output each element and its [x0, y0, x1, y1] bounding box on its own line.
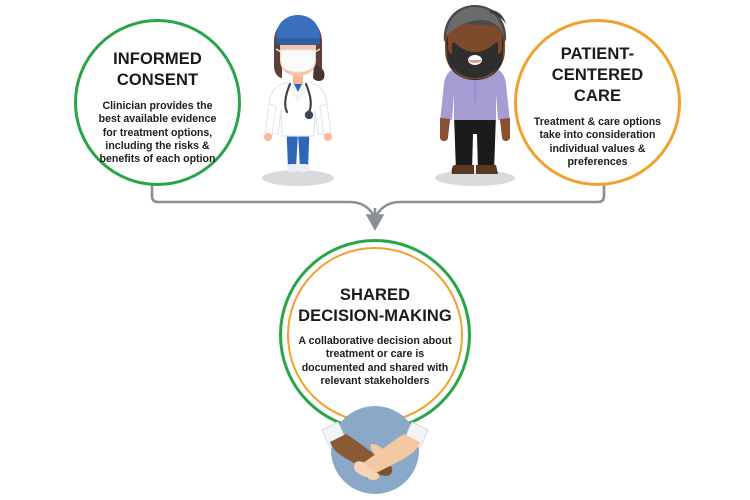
patient-shoe-right	[476, 165, 498, 174]
node-shared-decision-making-title: SHARED DECISION-MAKING	[289, 285, 461, 327]
node-patient-centered-care-body: Treatment & care options take into consi…	[532, 116, 664, 169]
node-informed-consent[interactable]: INFORMED CONSENT Clinician provides the …	[74, 19, 241, 186]
patient-hand-left	[440, 118, 450, 141]
node-patient-centered-care-title: PATIENT-CENTERED CARE	[528, 44, 668, 107]
stethoscope-bell	[305, 111, 313, 119]
face-mask-icon	[281, 50, 315, 72]
patient-shoe-left	[452, 165, 474, 174]
patient-hand-right	[500, 118, 510, 141]
node-shared-decision-making-body: A collaborative decision about treatment…	[295, 335, 455, 388]
handshake-illustration	[316, 404, 434, 500]
clinician-hand-left	[264, 133, 272, 141]
clinician-hair-tail	[313, 64, 325, 81]
clinician-shoe-left	[287, 164, 298, 172]
node-informed-consent-body: Clinician provides the best available ev…	[98, 100, 218, 166]
clinician-shadow	[262, 170, 334, 186]
patient-shadow	[435, 170, 515, 186]
node-informed-consent-title: INFORMED CONSENT	[88, 49, 228, 91]
node-patient-centered-care[interactable]: PATIENT-CENTERED CARE Treatment & care o…	[514, 19, 681, 186]
diagram-canvas: INFORMED CONSENT Clinician provides the …	[0, 0, 750, 500]
node-shared-decision-making[interactable]: SHARED DECISION-MAKING A collaborative d…	[287, 247, 463, 423]
clinician-hand-right	[324, 133, 332, 141]
scrub-cap-band	[276, 38, 320, 45]
clinician-shoe-right	[298, 164, 309, 172]
patient-legs	[454, 114, 496, 172]
clinician-illustration	[238, 8, 358, 194]
patient-placket	[474, 78, 476, 102]
